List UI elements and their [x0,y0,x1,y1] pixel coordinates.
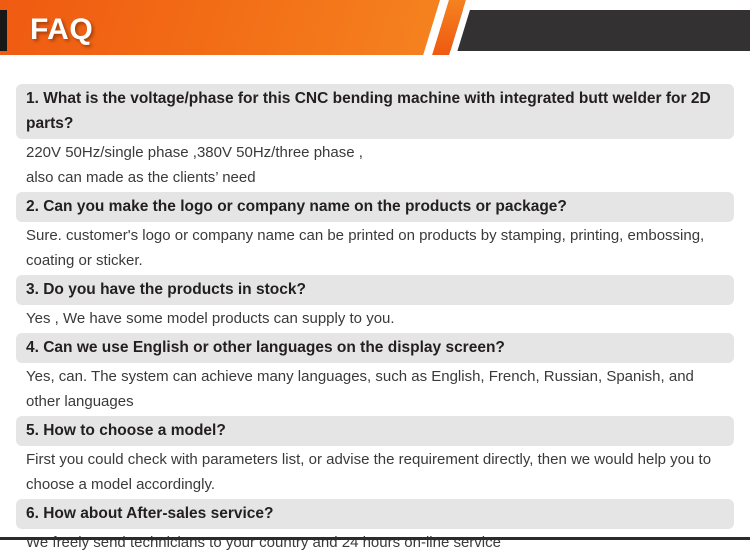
header-left-tab [0,10,7,51]
faq-answer: Yes , We have some model products can su… [16,305,734,333]
faq-item: 4. Can we use English or other languages… [16,333,734,416]
faq-answer: First you could check with parameters li… [16,446,734,499]
faq-question[interactable]: 3. Do you have the products in stock? [16,275,734,305]
faq-question[interactable]: 4. Can we use English or other languages… [16,333,734,363]
faq-answer: Yes, can. The system can achieve many la… [16,363,734,416]
faq-answer: Sure. customer's logo or company name ca… [16,222,734,275]
faq-item: 3. Do you have the products in stock? Ye… [16,275,734,333]
faq-item: 1. What is the voltage/phase for this CN… [16,84,734,192]
page-title: FAQ [30,11,93,49]
faq-question[interactable]: 6. How about After-sales service? [16,499,734,529]
faq-question[interactable]: 5. How to choose a model? [16,416,734,446]
faq-question[interactable]: 1. What is the voltage/phase for this CN… [16,84,734,139]
faq-answer: 220V 50Hz/single phase ,380V 50Hz/three … [16,139,734,192]
faq-list: 1. What is the voltage/phase for this CN… [0,62,750,557]
faq-item: 5. How to choose a model? First you coul… [16,416,734,499]
faq-item: 6. How about After-sales service? We fre… [16,499,734,557]
page-header-banner: FAQ [0,0,750,62]
faq-question[interactable]: 2. Can you make the logo or company name… [16,192,734,222]
faq-answer: We freely send technicians to your count… [16,529,734,557]
faq-item: 2. Can you make the logo or company name… [16,192,734,275]
